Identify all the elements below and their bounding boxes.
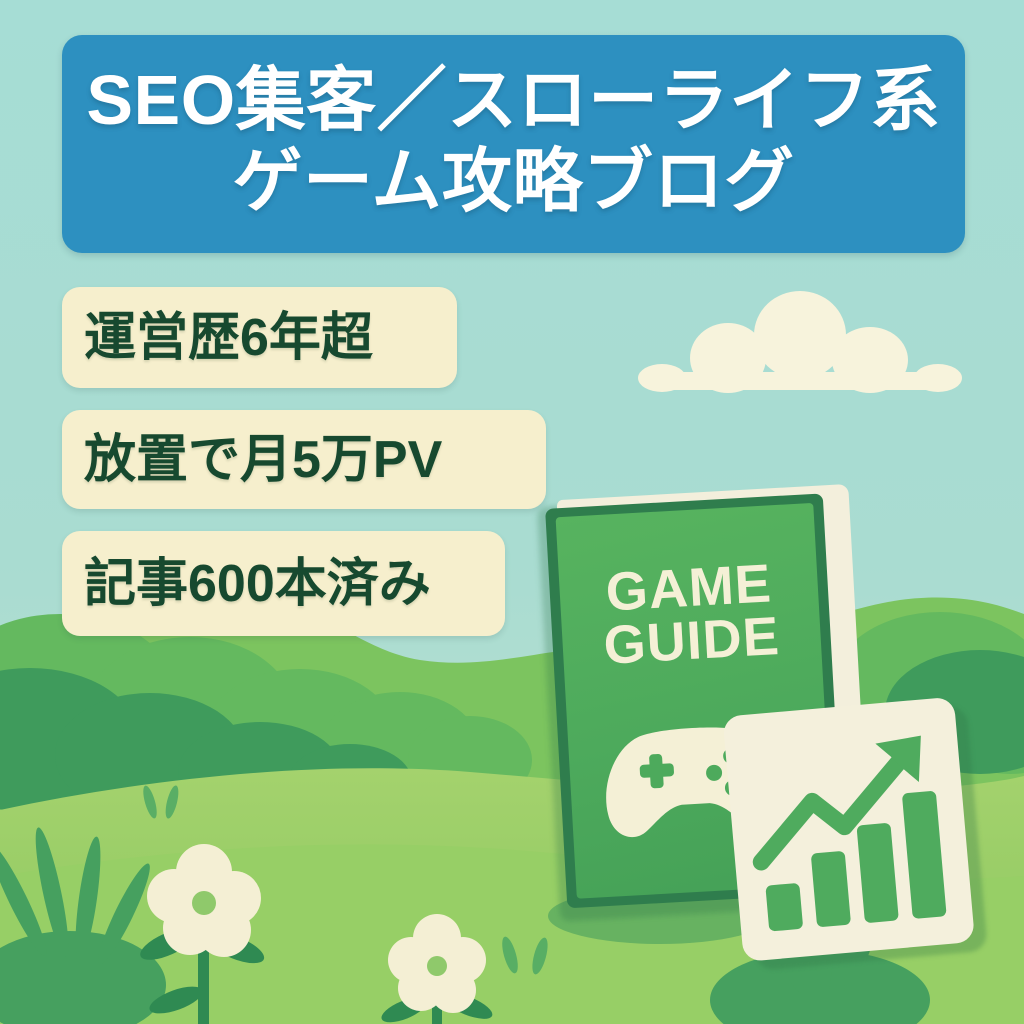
growth-chart-icon <box>722 697 975 962</box>
stat-chip-label: 放置で月5万PV <box>84 434 442 486</box>
chart-card-face <box>722 697 975 962</box>
poster-canvas: SEO集客／スローライフ系 ゲーム攻略ブログ 運営歴6年超 放置で月5万PV 記… <box>0 0 1024 1024</box>
stat-chip-monthly-pv: 放置で月5万PV <box>62 410 546 509</box>
growth-chart-card <box>722 696 981 968</box>
stat-chip-label: 記事600本済み <box>84 558 431 610</box>
chart-bar-2 <box>811 851 851 928</box>
stat-chip-label: 運営歴6年超 <box>84 312 373 364</box>
book-title: GAME GUIDE <box>558 555 822 675</box>
title-line-2: ゲーム攻略ブログ <box>233 141 795 222</box>
title-banner: SEO集客／スローライフ系 ゲーム攻略ブログ <box>62 35 965 253</box>
stat-chip-article-count: 記事600本済み <box>62 531 505 636</box>
stat-chip-operating-years: 運営歴6年超 <box>62 287 457 388</box>
chart-bar-3 <box>856 823 898 924</box>
title-line-1: SEO集客／スローライフ系 <box>86 60 940 141</box>
chart-bar-4 <box>902 791 947 919</box>
chart-bar-1 <box>765 883 803 932</box>
